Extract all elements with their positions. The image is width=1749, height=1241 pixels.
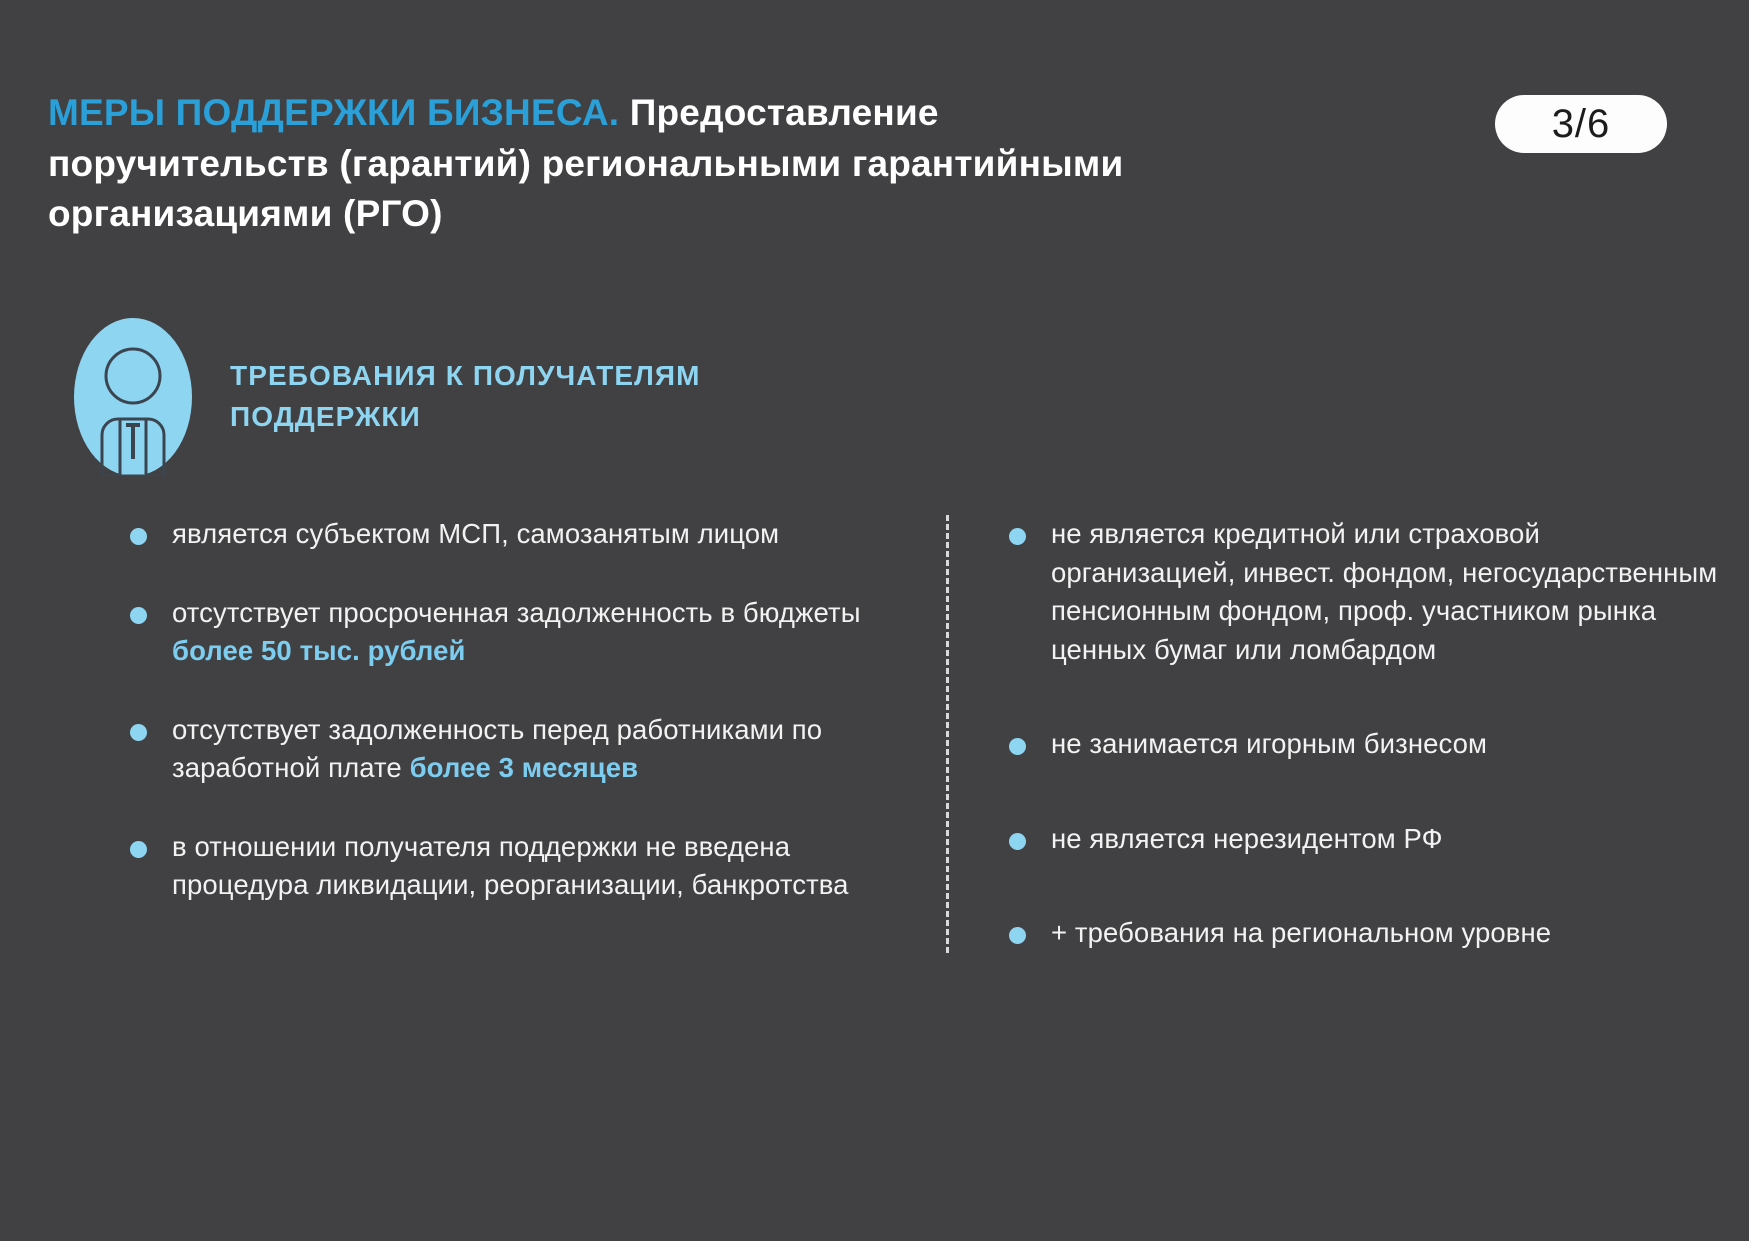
list-item: не занимается игорным бизнесом	[1009, 725, 1729, 764]
list-item: отсутствует задолженность перед работник…	[130, 711, 890, 788]
list-item: не является нерезидентом РФ	[1009, 820, 1729, 859]
list-item-text: отсутствует просроченная задолженность в…	[172, 597, 861, 628]
bullet-dot-icon	[1009, 833, 1026, 850]
requirements-left-column: является субъектом МСП, самозанятым лицо…	[130, 515, 890, 953]
list-item-text: + требования на региональном уровне	[1051, 917, 1551, 948]
page-indicator-badge: 3/6	[1495, 95, 1667, 153]
bullet-dot-icon	[130, 724, 147, 741]
list-item: в отношении получателя поддержки не введ…	[130, 828, 890, 905]
left-bullet-list: является субъектом МСП, самозанятым лицо…	[130, 515, 890, 905]
page-indicator-label: 3/6	[1552, 102, 1611, 147]
slide-canvas: МЕРЫ ПОДДЕРЖКИ БИЗНЕСА. Предоставление п…	[0, 0, 1749, 1241]
list-item: отсутствует просроченная задолженность в…	[130, 594, 890, 671]
bullet-dot-icon	[1009, 927, 1026, 944]
bullet-dot-icon	[130, 607, 147, 624]
section-header: ТРЕБОВАНИЯ К ПОЛУЧАТЕЛЯМ ПОДДЕРЖКИ	[74, 318, 850, 476]
list-item: + требования на региональном уровне	[1009, 914, 1729, 953]
bullet-dot-icon	[130, 528, 147, 545]
list-item-text: не является кредитной или страховой орга…	[1051, 518, 1717, 665]
list-item-text: в отношении получателя поддержки не введ…	[172, 831, 849, 901]
page-title-accent: МЕРЫ ПОДДЕРЖКИ БИЗНЕСА.	[48, 92, 619, 133]
bullet-dot-icon	[1009, 738, 1026, 755]
page-title: МЕРЫ ПОДДЕРЖКИ БИЗНЕСА. Предоставление п…	[48, 88, 1228, 240]
bullet-dot-icon	[130, 841, 147, 858]
requirements-right-column: не является кредитной или страховой орга…	[949, 515, 1729, 953]
person-avatar-icon	[74, 318, 192, 476]
requirements-columns: является субъектом МСП, самозанятым лицо…	[130, 515, 1729, 953]
list-item-text: не занимается игорным бизнесом	[1051, 728, 1487, 759]
bullet-dot-icon	[1009, 528, 1026, 545]
list-item-text: не является нерезидентом РФ	[1051, 823, 1443, 854]
list-item: является субъектом МСП, самозанятым лицо…	[130, 515, 890, 554]
header: МЕРЫ ПОДДЕРЖКИ БИЗНЕСА. Предоставление п…	[48, 88, 1228, 240]
list-item: не является кредитной или страховой орга…	[1009, 515, 1729, 669]
list-item-text: является субъектом МСП, самозанятым лицо…	[172, 518, 779, 549]
right-bullet-list: не является кредитной или страховой орга…	[1009, 515, 1729, 953]
list-item-highlight: более 3 месяцев	[410, 752, 639, 783]
section-title: ТРЕБОВАНИЯ К ПОЛУЧАТЕЛЯМ ПОДДЕРЖКИ	[230, 356, 850, 437]
list-item-highlight: более 50 тыс. рублей	[172, 635, 466, 666]
